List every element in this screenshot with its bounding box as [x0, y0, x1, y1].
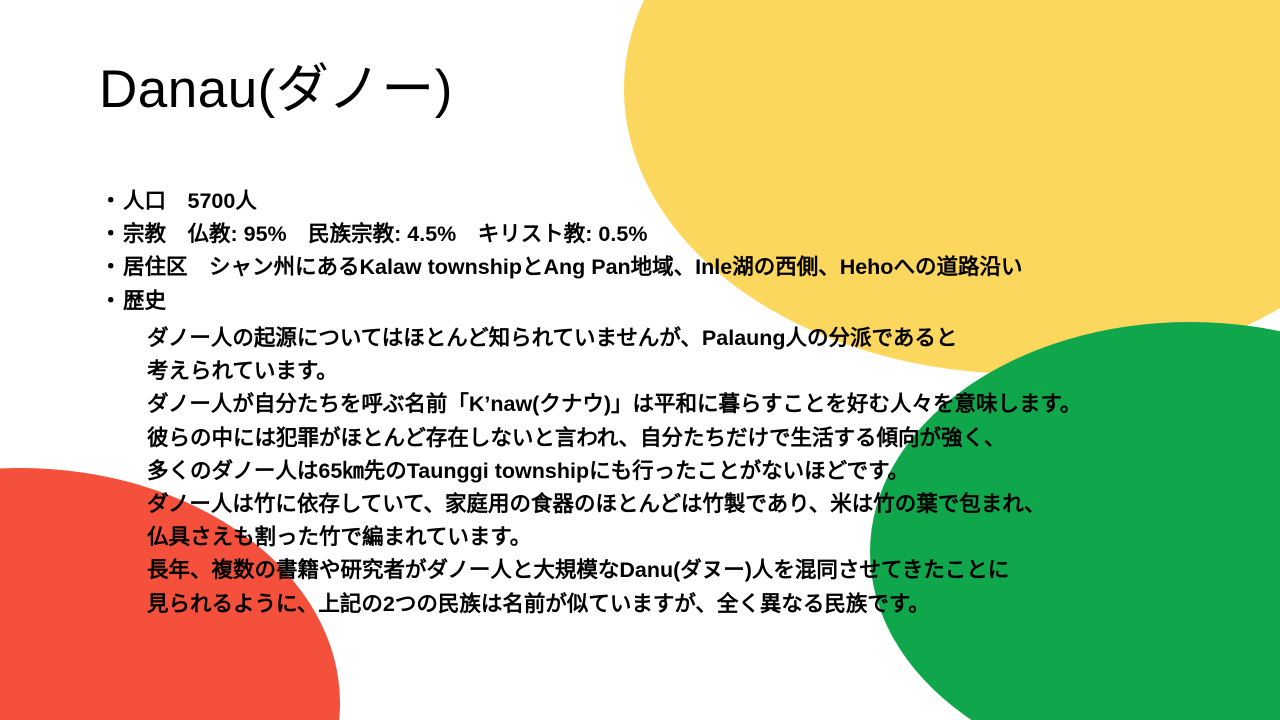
body-text-line: 長年、複数の書籍や研究者がダノー人と大規模なDanu(ダヌー)人を混同させてきた… — [147, 554, 1277, 587]
body-text-line: ダノー人が自分たちを呼ぶ名前「K’naw(クナウ)」は平和に暮らすことを好む人々… — [147, 388, 1277, 421]
bullet-dot-icon: ・ — [100, 185, 122, 218]
bullet-dot-icon: ・ — [100, 251, 122, 284]
history-paragraph: ダノー人の起源についてはほとんど知られていませんが、Palaung人の分派である… — [147, 322, 1277, 621]
list-item: ・ 居住区 シャン州にあるKalaw townshipとAng Pan地域、In… — [97, 251, 1272, 284]
body-text-line: ダノー人の起源についてはほとんど知られていませんが、Palaung人の分派である… — [147, 322, 1277, 355]
body-text-line: 考えられています。 — [147, 355, 1277, 388]
list-item-label: 人口 5700人 — [123, 189, 257, 213]
list-item: ・ 歴史 — [97, 285, 1272, 318]
slide-content: Danau(ダノー) ・ 人口 5700人 ・ 宗教 仏教: 95% 民族宗教:… — [0, 0, 1280, 720]
list-item: ・ 宗教 仏教: 95% 民族宗教: 4.5% キリスト教: 0.5% — [97, 218, 1272, 251]
list-item-label: 居住区 シャン州にあるKalaw townshipとAng Pan地域、Inle… — [123, 255, 1022, 279]
bullet-list: ・ 人口 5700人 ・ 宗教 仏教: 95% 民族宗教: 4.5% キリスト教… — [97, 185, 1272, 318]
page-title: Danau(ダノー) — [99, 59, 453, 122]
bullet-dot-icon: ・ — [100, 218, 122, 251]
body-text-line: 彼らの中には犯罪がほとんど存在しないと言われ、自分たちだけで生活する傾向が強く、 — [147, 422, 1277, 455]
list-item: ・ 人口 5700人 — [97, 185, 1272, 218]
presentation-slide: Danau(ダノー) ・ 人口 5700人 ・ 宗教 仏教: 95% 民族宗教:… — [0, 0, 1280, 720]
body-text-line: ダノー人は竹に依存していて、家庭用の食器のほとんどは竹製であり、米は竹の葉で包ま… — [147, 488, 1277, 521]
body-text-line: 仏具さえも割った竹で編まれています。 — [147, 521, 1277, 554]
list-item-label: 宗教 仏教: 95% 民族宗教: 4.5% キリスト教: 0.5% — [123, 222, 647, 246]
body-text-line: 多くのダノー人は65㎞先のTaunggi townshipにも行ったことがないほ… — [147, 455, 1277, 488]
body-text-line: 見られるように、上記の2つの民族は名前が似ていますが、全く異なる民族です。 — [147, 588, 1277, 621]
list-item-label: 歴史 — [123, 289, 166, 313]
bullet-dot-icon: ・ — [100, 285, 122, 318]
